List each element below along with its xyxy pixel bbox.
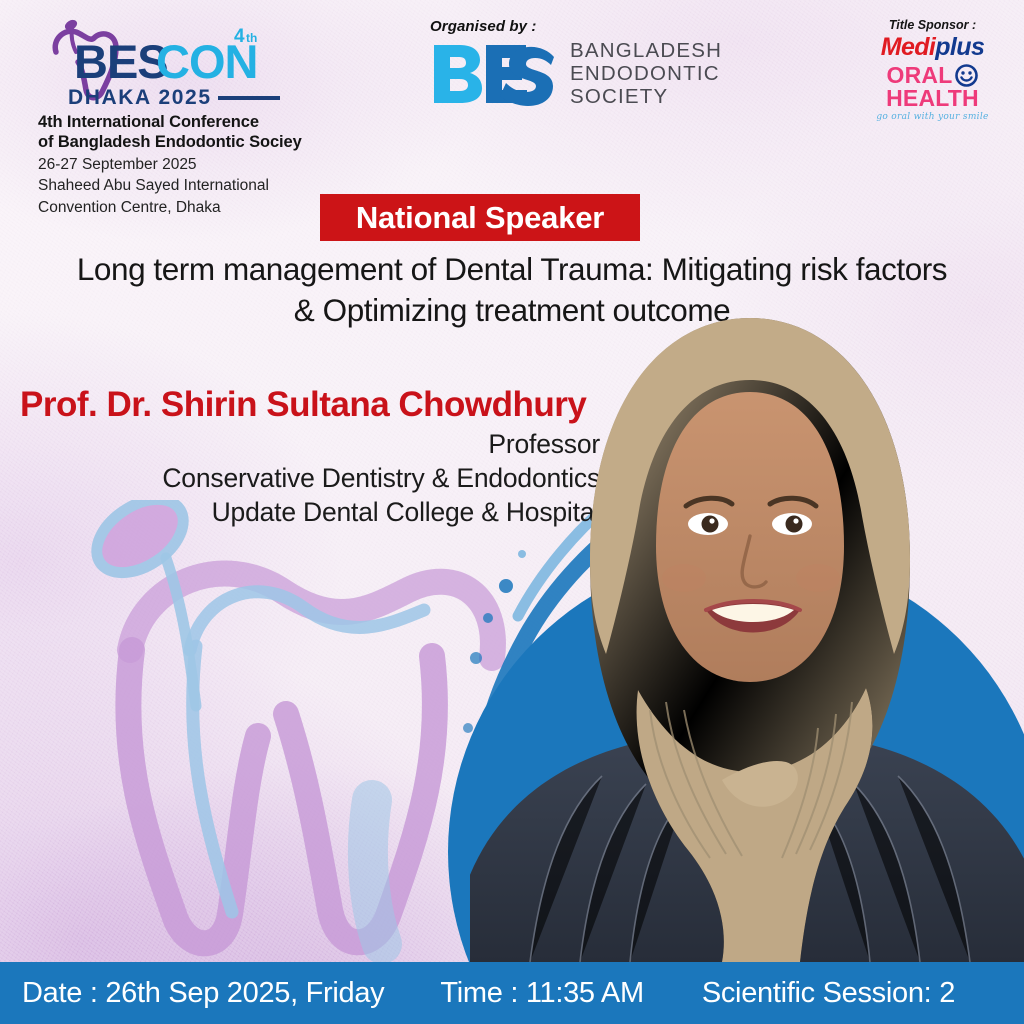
oral-health-line2: HEALTH — [845, 87, 1020, 109]
bescon-logo-block: BES CON 4 th DHAKA 2025 4th Internationa… — [38, 18, 378, 217]
organiser-name: BANGLADESH ENDODONTIC SOCIETY — [570, 39, 722, 108]
oral-health-logo: ORAL HEALTH — [845, 64, 1020, 109]
conference-title-line2: of Bangladesh Endodontic Sociey — [38, 132, 378, 152]
mediplus-medi: Medi — [881, 33, 936, 61]
svg-text:BES: BES — [74, 35, 168, 88]
svg-text:DHAKA 2025: DHAKA 2025 — [68, 86, 212, 109]
organiser-block: Organised by : BANGLADESH ENDODONTIC SOC… — [430, 18, 760, 108]
footer-banner: Date : 26th Sep 2025, Friday Time : 11:3… — [0, 962, 1024, 1024]
oral-health-line1: ORAL — [887, 64, 953, 86]
mediplus-plus: plus — [935, 33, 984, 61]
bes-logo-icon — [430, 41, 558, 107]
footer-time: Time : 11:35 AM — [440, 977, 643, 1010]
mediplus-logo: Mediplus — [845, 33, 1020, 62]
title-sponsor-block: Title Sponsor : Mediplus ORAL HEALTH go … — [845, 18, 1020, 122]
organiser-name-line2: ENDODONTIC — [570, 62, 722, 85]
footer-date: Date : 26th Sep 2025, Friday — [22, 977, 384, 1010]
conference-venue-line1: Shaheed Abu Sayed International — [38, 176, 378, 196]
oral-health-tagline: go oral with your smile — [845, 112, 1020, 122]
bescon-logo-icon: BES CON 4 th DHAKA 2025 — [38, 18, 288, 110]
speaker-portrait-image — [470, 310, 1024, 962]
speaker-portrait — [470, 310, 1024, 962]
conference-title-line1: 4th International Conference — [38, 112, 378, 132]
organised-by-label: Organised by : — [430, 18, 760, 35]
title-sponsor-label: Title Sponsor : — [845, 18, 1020, 32]
national-speaker-label: National Speaker — [356, 200, 604, 236]
national-speaker-badge: National Speaker — [320, 194, 640, 241]
organiser-name-line1: BANGLADESH — [570, 39, 722, 62]
svg-text:th: th — [246, 31, 257, 45]
svg-text:4: 4 — [234, 26, 245, 47]
speaker-announcement-poster: BES CON 4 th DHAKA 2025 4th Internationa… — [0, 0, 1024, 1024]
smiley-face-icon — [955, 64, 978, 87]
organiser-name-line3: SOCIETY — [570, 85, 722, 108]
lecture-title-line1: Long term management of Dental Trauma: M… — [34, 249, 990, 290]
conference-dates: 26-27 September 2025 — [38, 155, 378, 175]
footer-session: Scientific Session: 2 — [702, 977, 955, 1010]
